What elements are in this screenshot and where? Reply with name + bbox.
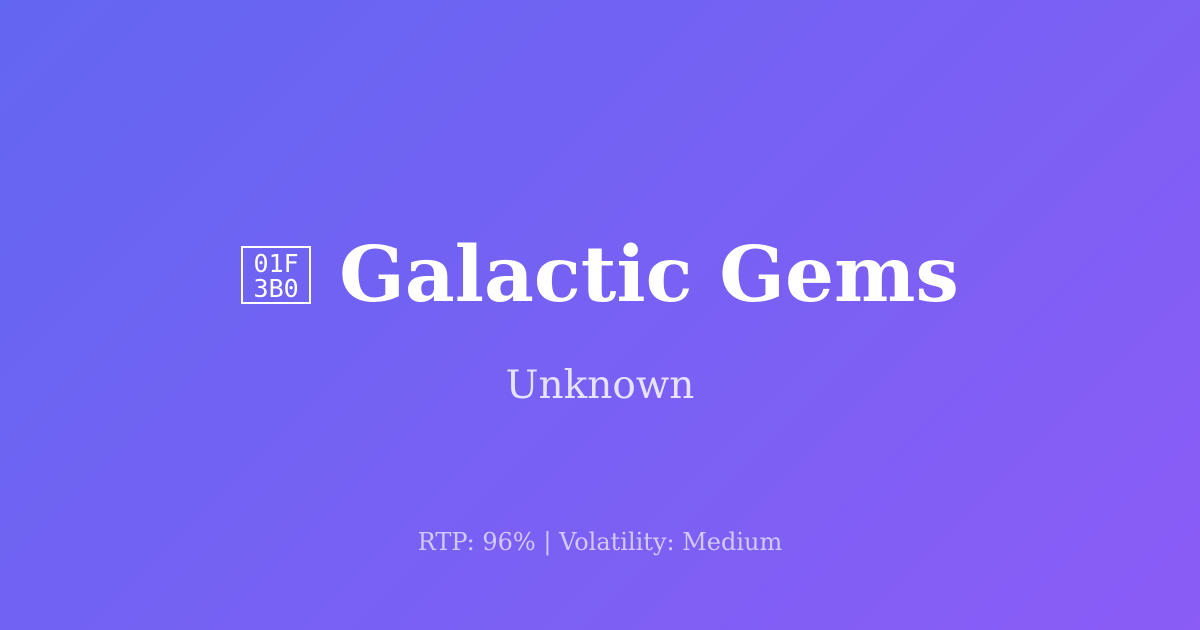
tofu-codepoint-top: 01F <box>254 251 299 276</box>
slot-machine-icon: 01F 3B0 <box>241 246 311 304</box>
og-preview-card: 01F 3B0 Galactic Gems Unknown RTP: 96% |… <box>0 0 1200 630</box>
game-meta-line: RTP: 96% | Volatility: Medium <box>0 526 1200 558</box>
tofu-codepoint-bottom: 3B0 <box>254 276 299 301</box>
provider-name: Unknown <box>0 362 1200 410</box>
title-row: 01F 3B0 Galactic Gems <box>0 232 1200 318</box>
game-title: Galactic Gems <box>339 232 959 318</box>
